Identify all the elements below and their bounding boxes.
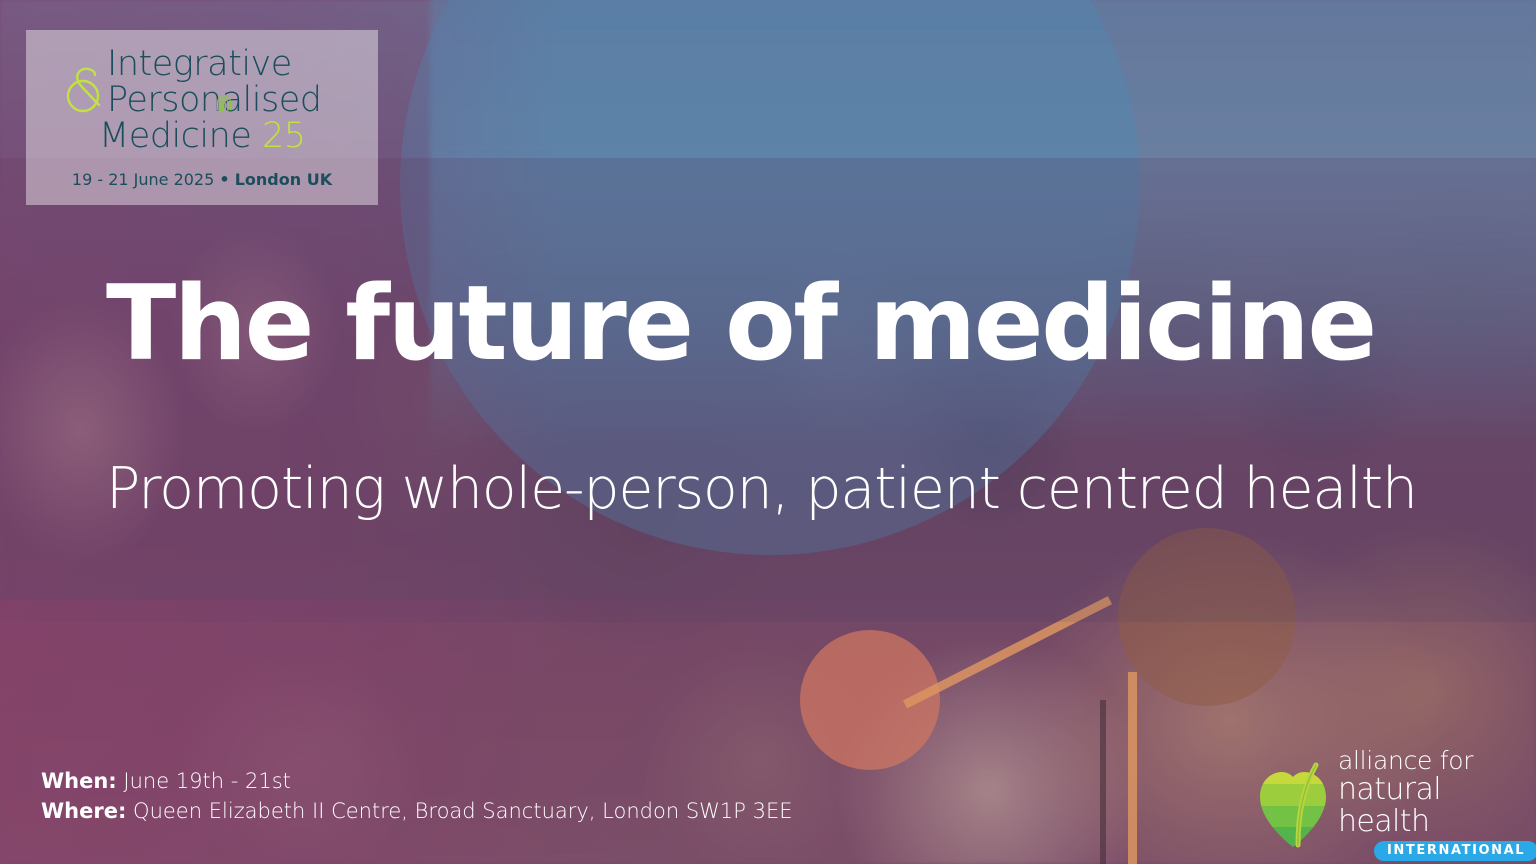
sponsor-name-line-2: natural health (1338, 774, 1536, 838)
event-when-label: When: (41, 769, 117, 793)
page-subtitle: Promoting whole-person, patient centred … (106, 455, 1417, 523)
event-logo-line-3: Medicine 25 (59, 118, 359, 154)
page-title: The future of medicine (106, 268, 1375, 380)
event-logo-year-badge: 25 (262, 116, 306, 156)
event-logo-panel: Integrative Personalised Med (26, 30, 378, 205)
sponsor-international-badge: INTERNATIONAL (1374, 841, 1536, 861)
event-dates-line: 19 - 21 June 2025 • London UK (72, 170, 332, 189)
event-dates: 19 - 21 June 2025 (72, 170, 214, 189)
event-poster: Integrative Personalised Med (0, 0, 1536, 864)
ampersand-icon (61, 65, 113, 117)
event-logo-line-3-text: Medicine (99, 116, 251, 156)
event-details: When: June 19th - 21st Where: Queen Eliz… (41, 766, 793, 826)
event-where-row: Where: Queen Elizabeth II Centre, Broad … (41, 796, 793, 826)
sponsor-logo[interactable]: alliance for natural health INTERNATIONA… (1256, 757, 1524, 852)
sponsor-logo-wordmark: alliance for natural health INTERNATIONA… (1338, 748, 1536, 861)
event-where-label: Where: (41, 799, 126, 823)
event-where-value: Queen Elizabeth II Centre, Broad Sanctua… (133, 799, 792, 823)
leaf-heart-icon (1256, 761, 1332, 849)
event-logo-wordmark: Integrative Personalised Med (59, 46, 359, 154)
fingerprint-icon (211, 91, 237, 117)
event-when-row: When: June 19th - 21st (41, 766, 793, 796)
bullet-separator-icon: • (219, 170, 229, 189)
sponsor-name-line-1: alliance for (1338, 748, 1473, 774)
event-when-value: June 19th - 21st (123, 769, 291, 793)
event-city: London UK (235, 170, 332, 189)
